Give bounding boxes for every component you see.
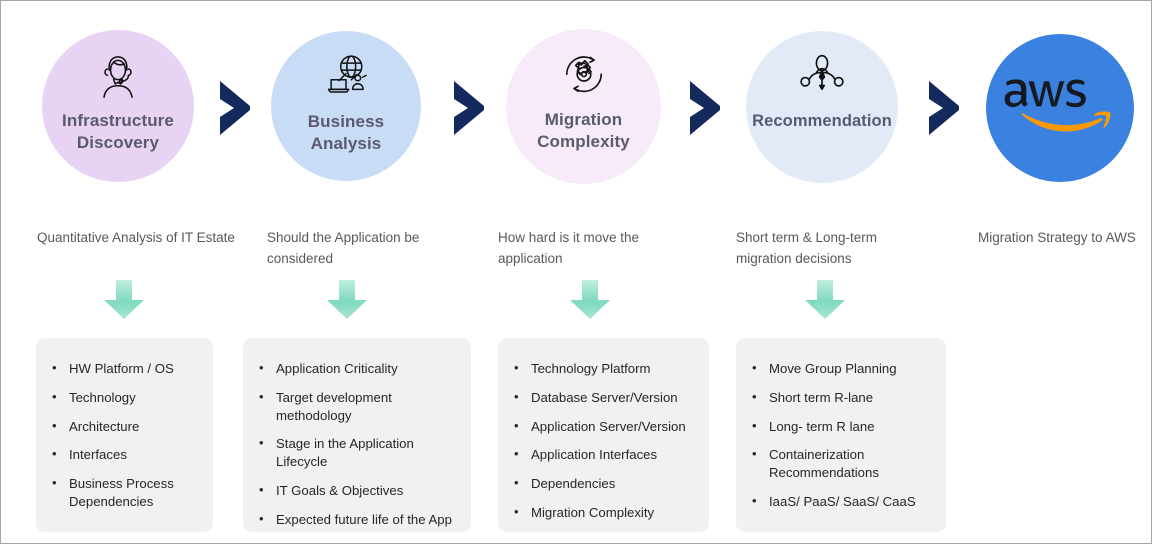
aws-logo bbox=[1001, 76, 1119, 140]
detail-list-business-analysis: Application Criticality Target developme… bbox=[257, 360, 459, 544]
stage-title-recommendation: Recommendation bbox=[752, 111, 892, 132]
list-item: Migration Complexity bbox=[512, 504, 697, 522]
detail-box-business-analysis: Application Criticality Target developme… bbox=[243, 338, 471, 532]
stage-title-line2: Analysis bbox=[308, 133, 384, 155]
chevron-right-icon-4 bbox=[926, 79, 964, 137]
list-item: Database Server/Version bbox=[512, 389, 697, 407]
network-person-icon bbox=[790, 49, 854, 107]
stage-caption-infrastructure-discovery: Quantitative Analysis of IT Estate bbox=[37, 228, 237, 249]
detail-list-recommendation: Move Group Planning Short term R-lane Lo… bbox=[750, 360, 934, 511]
list-item: Stage in the Application Lifecycle bbox=[257, 435, 459, 471]
list-item: Target development methodology bbox=[257, 389, 459, 425]
final-caption-aws: Migration Strategy to AWS bbox=[978, 228, 1152, 249]
list-item: Business Process Dependencies bbox=[50, 475, 201, 511]
list-item: Application Interfaces bbox=[512, 446, 697, 464]
list-item: Interfaces bbox=[50, 446, 201, 464]
headset-agent-icon bbox=[86, 48, 150, 106]
list-item: Expected future life of the App bbox=[257, 511, 459, 529]
stage-title-infrastructure-discovery: Infrastructure Discovery bbox=[62, 110, 174, 154]
gear-cycle-icon bbox=[552, 47, 616, 105]
stage-caption-migration-complexity: How hard is it move the application bbox=[498, 228, 678, 270]
list-item: Long- term R lane bbox=[750, 418, 934, 436]
list-item: Architecture bbox=[50, 418, 201, 436]
list-item: HW Platform / OS bbox=[50, 360, 201, 378]
list-item: Short term R-lane bbox=[750, 389, 934, 407]
stage-circle-business-analysis[interactable]: Business Analysis bbox=[271, 31, 421, 181]
stage-title-line2: Complexity bbox=[537, 131, 630, 153]
chevron-right-icon-3 bbox=[687, 79, 725, 137]
stage-title-migration-complexity: Migration Complexity bbox=[537, 109, 630, 153]
down-arrow-1 bbox=[101, 280, 147, 320]
down-arrow-2 bbox=[324, 280, 370, 320]
stage-title-business-analysis: Business Analysis bbox=[308, 111, 384, 155]
stage-circle-recommendation[interactable]: Recommendation bbox=[746, 31, 898, 183]
aws-target-circle[interactable] bbox=[986, 34, 1134, 182]
list-item: Containerization Recommendations bbox=[750, 446, 934, 482]
detail-box-infrastructure-discovery: HW Platform / OS Technology Architecture… bbox=[36, 338, 213, 532]
list-item: IaaS/ PaaS/ SaaS/ CaaS bbox=[750, 493, 934, 511]
down-arrow-4 bbox=[802, 280, 848, 320]
detail-list-migration-complexity: Technology Platform Database Server/Vers… bbox=[512, 360, 697, 522]
list-item: Move Group Planning bbox=[750, 360, 934, 378]
diagram-canvas: Infrastructure Discovery Quantitative An… bbox=[0, 0, 1152, 544]
stage-title-line1: Migration bbox=[537, 109, 630, 131]
stage-title-line1: Recommendation bbox=[752, 111, 892, 132]
stage-caption-recommendation: Short term & Long-term migration decisio… bbox=[736, 228, 921, 270]
down-arrow-3 bbox=[567, 280, 613, 320]
stage-circle-infrastructure-discovery[interactable]: Infrastructure Discovery bbox=[42, 30, 194, 182]
list-item: Application Server/Version bbox=[512, 418, 697, 436]
list-item: Technology bbox=[50, 389, 201, 407]
detail-box-migration-complexity: Technology Platform Database Server/Vers… bbox=[498, 338, 709, 532]
list-item: Dependencies bbox=[512, 475, 697, 493]
chevron-right-icon-2 bbox=[451, 79, 489, 137]
stage-circle-migration-complexity[interactable]: Migration Complexity bbox=[506, 29, 661, 184]
stage-caption-business-analysis: Should the Application be considered bbox=[267, 228, 457, 270]
stage-title-line1: Infrastructure bbox=[62, 110, 174, 132]
detail-list-infrastructure-discovery: HW Platform / OS Technology Architecture… bbox=[50, 360, 201, 511]
list-item: Technology Platform bbox=[512, 360, 697, 378]
chevron-right-icon-1 bbox=[217, 79, 255, 137]
stage-title-line1: Business bbox=[308, 111, 384, 133]
list-item: Business Case, benefits & value bbox=[257, 540, 459, 544]
list-item: Application Criticality bbox=[257, 360, 459, 378]
stage-title-line2: Discovery bbox=[62, 132, 174, 154]
detail-box-recommendation: Move Group Planning Short term R-lane Lo… bbox=[736, 338, 946, 532]
globe-laptop-icon bbox=[314, 49, 378, 107]
list-item: IT Goals & Objectives bbox=[257, 482, 459, 500]
